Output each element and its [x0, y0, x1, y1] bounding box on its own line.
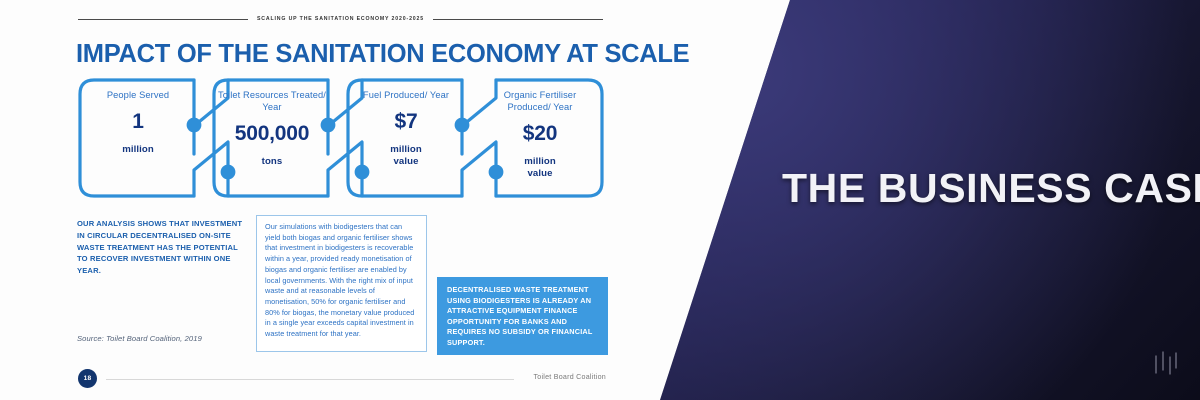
metric-unit: millionvalue	[390, 144, 422, 169]
footer-divider	[106, 379, 514, 380]
eyebrow-label: SCALING UP THE SANITATION ECONOMY 2020-2…	[257, 16, 424, 22]
page-footer: 18 Toilet Board Coalition	[76, 369, 606, 389]
metric-card: Fuel Produced/ Year $7 millionvalue	[348, 78, 464, 196]
metric-value: $20	[523, 123, 557, 144]
eyebrow-header: SCALING UP THE SANITATION ECONOMY 2020-2…	[78, 12, 603, 26]
callout-paragraph: DECENTRALISED WASTE TREATMENT USING BIOD…	[447, 285, 598, 348]
metric-value: 1	[132, 111, 143, 132]
metric-unit: tons	[262, 156, 283, 168]
lead-statement: OUR ANALYSIS SHOWS THAT INVESTMENT IN CI…	[77, 218, 249, 277]
page-number-badge: 18	[78, 369, 97, 388]
metrics-row: People Served 1 million Toilet Resources…	[76, 78, 606, 203]
brand-mark-icon	[1149, 348, 1183, 378]
metric-unit: million	[122, 144, 154, 156]
metric-label: Fuel Produced/ Year	[363, 90, 449, 102]
eyebrow-rule-left	[78, 19, 248, 20]
metric-unit: millionvalue	[524, 156, 556, 181]
footer-brand-label: Toilet Board Coalition	[533, 373, 606, 381]
metric-card: Toilet Resources Treated/ Year 500,000 t…	[214, 78, 330, 196]
simulation-textbox: Our simulations with biodigesters that c…	[256, 215, 427, 352]
eyebrow-rule-right	[433, 19, 603, 20]
page-title: IMPACT OF THE SANITATION ECONOMY AT SCAL…	[76, 40, 689, 69]
section-title: THE BUSINESS CASE	[782, 168, 1182, 209]
metric-card: Organic Fertiliser Produced/ Year $20 mi…	[482, 78, 598, 196]
metric-label: Toilet Resources Treated/ Year	[218, 90, 326, 114]
source-citation: Source: Toilet Board Coalition, 2019	[77, 334, 267, 343]
slide-page: SCALING UP THE SANITATION ECONOMY 2020-2…	[0, 0, 1200, 400]
metric-value: 500,000	[235, 123, 310, 144]
metric-label: People Served	[107, 90, 169, 102]
simulation-paragraph: Our simulations with biodigesters that c…	[265, 222, 419, 340]
metric-card: People Served 1 million	[80, 78, 196, 196]
metric-label: Organic Fertiliser Produced/ Year	[486, 90, 594, 114]
metric-value: $7	[395, 111, 418, 132]
callout-box: DECENTRALISED WASTE TREATMENT USING BIOD…	[437, 277, 608, 355]
